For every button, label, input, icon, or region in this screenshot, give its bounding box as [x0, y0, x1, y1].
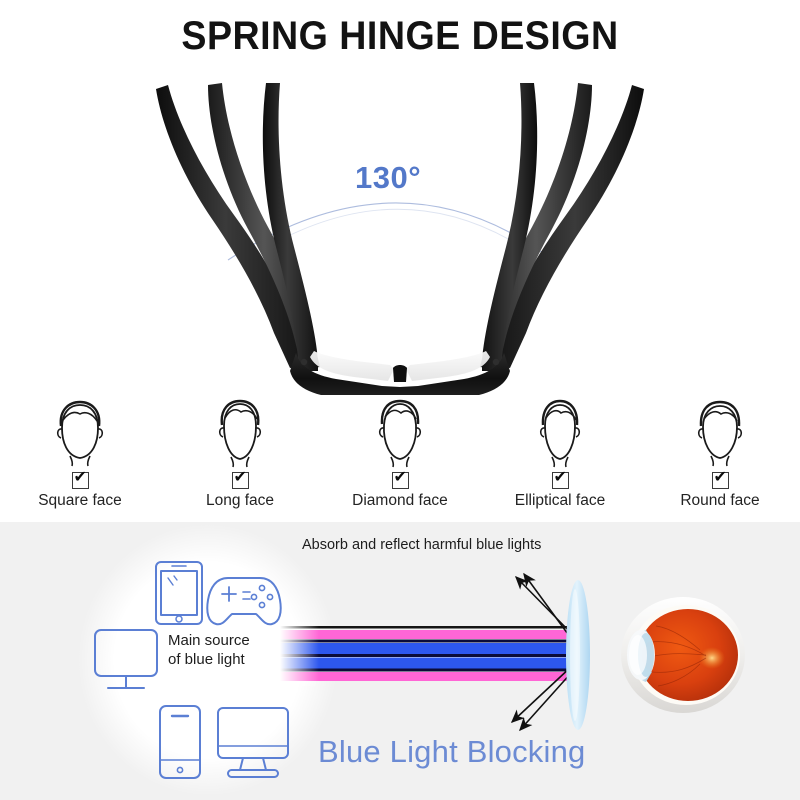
blue-light-blocking-section: Absorb and reflect harmful blue lights M…: [0, 522, 800, 800]
face-checkbox[interactable]: ✔: [232, 472, 249, 489]
check-icon: ✔: [394, 469, 407, 485]
long-face-icon: [203, 398, 277, 470]
face-shape-item-elliptical[interactable]: ✔ Elliptical face: [480, 398, 640, 516]
infographic-page: SPRING HINGE DESIGN: [0, 0, 800, 800]
page-title: SPRING HINGE DESIGN: [24, 14, 776, 59]
diamond-face-icon: [363, 398, 437, 470]
face-shape-label: Square face: [38, 492, 122, 510]
glasses-product-photo: [150, 75, 650, 395]
face-checkbox[interactable]: ✔: [712, 472, 729, 489]
frame-front: [290, 351, 510, 395]
face-shape-label: Long face: [206, 492, 274, 510]
face-checkbox[interactable]: ✔: [72, 472, 89, 489]
face-shape-item-square[interactable]: ✔ Square face: [0, 398, 160, 516]
absorb-reflect-caption: Absorb and reflect harmful blue lights: [302, 537, 541, 553]
check-icon: ✔: [714, 469, 727, 485]
blue-light-beam: [280, 622, 580, 686]
hinge-angle-label: 130°: [355, 160, 421, 196]
face-shape-item-diamond[interactable]: ✔ Diamond face: [320, 398, 480, 516]
left-temple-arms: [156, 83, 320, 371]
face-shape-row: ✔ Square face ✔ Long face: [0, 398, 800, 516]
face-shape-item-round[interactable]: ✔ Round face: [640, 398, 800, 516]
square-face-icon: [43, 398, 117, 470]
main-source-caption: Main source of blue light: [168, 631, 250, 669]
check-icon: ✔: [554, 469, 567, 485]
round-face-icon: [683, 398, 757, 470]
spring-hinge-section: SPRING HINGE DESIGN: [0, 0, 800, 522]
right-temple-arms: [480, 83, 644, 371]
elliptical-face-icon: [523, 398, 597, 470]
face-checkbox[interactable]: ✔: [392, 472, 409, 489]
check-icon: ✔: [74, 469, 87, 485]
blue-light-lens: [566, 580, 590, 730]
face-shape-item-long[interactable]: ✔ Long face: [160, 398, 320, 516]
face-checkbox[interactable]: ✔: [552, 472, 569, 489]
face-shape-label: Diamond face: [352, 492, 448, 510]
check-icon: ✔: [234, 469, 247, 485]
face-shape-label: Round face: [680, 492, 759, 510]
face-shape-label: Elliptical face: [515, 492, 605, 510]
blue-light-blocking-title: Blue Light Blocking: [318, 734, 585, 770]
eye-illustration: [621, 597, 745, 713]
